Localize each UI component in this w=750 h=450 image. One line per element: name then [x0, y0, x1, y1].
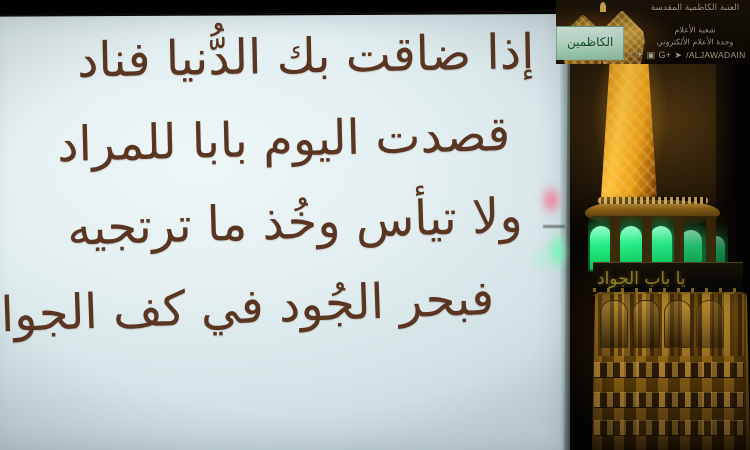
- shrine-badge-label: الكاظمين: [567, 37, 613, 50]
- calligraphy-band-dots: [593, 288, 743, 292]
- poem-line-3: ولا تيأس وخُذ ما ترتجيه: [66, 188, 523, 257]
- poem-line-4: فبحر الجُود في كف الجواد: [0, 270, 495, 344]
- shrine-logo-watermark: الكاظمين العتبة الكاظمية المقدسة شعبة ال…: [556, 0, 750, 64]
- drum-niche: [600, 300, 628, 348]
- drum-ring: [594, 392, 744, 408]
- drum-ring: [594, 362, 744, 378]
- facebook-icon[interactable]: f: [630, 51, 633, 60]
- screenshot-stage: يا باب الجواد إذا ضاقت بك الدُّنيا فناد …: [0, 0, 750, 450]
- instagram-icon[interactable]: ▣: [647, 51, 656, 60]
- dome-finial-icon: [600, 2, 606, 12]
- poem-line-1: إذا ضاقت بك الدُّنيا فناد: [76, 24, 534, 89]
- telegram-icon[interactable]: ➤: [674, 51, 682, 60]
- google-plus-icon[interactable]: G+: [658, 51, 671, 60]
- drum-niche: [696, 300, 724, 348]
- balcony-crenellation: [598, 197, 708, 204]
- poem-line-2: قصدت اليوم بابا للمراد: [56, 106, 510, 173]
- logo-title: العتبة الكاظمية المقدسة: [648, 3, 741, 14]
- arabic-poem: إذا ضاقت بك الدُّنيا فناد قصدت اليوم باب…: [12, 18, 552, 366]
- logo-subtitle-unit: وحدة الأعلام الألكتروني: [653, 38, 738, 47]
- drum-ring: [594, 420, 744, 436]
- shrine-badge: الكاظمين: [556, 26, 624, 60]
- drum-niche: [664, 300, 692, 348]
- social-media-row: f ✈ ▣ G+ ➤ /ALJAWADAIN: [630, 48, 750, 62]
- social-handle: /ALJAWADAIN: [686, 50, 745, 60]
- drum-niche: [632, 300, 660, 348]
- twitter-icon[interactable]: ✈: [636, 51, 644, 60]
- minaret-calligraphy-band: يا باب الجواد: [593, 262, 743, 296]
- logo-subtitle-division: شعبة الأعلام: [653, 26, 738, 35]
